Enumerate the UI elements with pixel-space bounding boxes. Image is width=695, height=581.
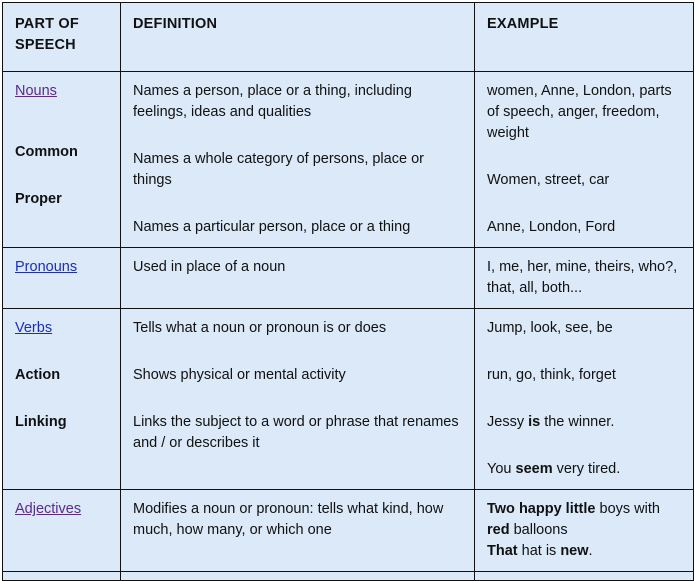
clipped-cell [121, 572, 475, 581]
definition-text: Names a whole category of persons, place… [133, 149, 464, 191]
subtype-label-action: Action [15, 365, 110, 386]
example-sentence-bold: red [487, 522, 510, 538]
example-text: I, me, her, mine, theirs, who?, that, al… [487, 257, 683, 299]
example-sentence-after-2: . [589, 543, 593, 559]
subtype-label-proper: Proper [15, 189, 110, 210]
definition-text: Names a person, place or a thing, includ… [133, 81, 464, 123]
definition-text: Modifies a noun or pronoun: tells what k… [133, 499, 464, 541]
column-header-definition: DEFINITION [121, 3, 475, 72]
example-sentence-bold-2: new [560, 543, 588, 559]
example-sentence-after: hat is [518, 543, 561, 559]
definition-cell-nouns: Names a person, place or a thing, includ… [121, 72, 475, 248]
table-row: Pronouns Used in place of a noun I, me, … [3, 248, 694, 309]
definition-text: Links the subject to a word or phrase th… [133, 412, 464, 454]
link-verbs[interactable]: Verbs [15, 318, 52, 339]
example-sentence-after: the winner. [540, 414, 614, 430]
example-text: women, Anne, London, parts of speech, an… [487, 81, 683, 144]
example-cell-pronouns: I, me, her, mine, theirs, who?, that, al… [475, 248, 694, 309]
example-sentence-bold: seem [516, 461, 553, 477]
table-row: Nouns Common Proper Names a person, plac… [3, 72, 694, 248]
part-of-speech-cell-nouns: Nouns Common Proper [3, 72, 121, 248]
definition-text: Used in place of a noun [133, 257, 464, 278]
definition-text: Shows physical or mental activity [133, 365, 464, 386]
part-of-speech-cell-pronouns: Pronouns [3, 248, 121, 309]
definition-cell-adjectives: Modifies a noun or pronoun: tells what k… [121, 490, 475, 572]
example-text: Anne, London, Ford [487, 217, 683, 238]
example-sentence-after: very tired. [553, 461, 621, 477]
example-sentence: Jessy is the winner. [487, 412, 683, 433]
link-pronouns[interactable]: Pronouns [15, 257, 77, 278]
spacer [15, 102, 110, 142]
table-row: Verbs Action Linking Tells what a noun o… [3, 309, 694, 490]
example-sentence: red balloons [487, 520, 683, 541]
table-row: Adjectives Modifies a noun or pronoun: t… [3, 490, 694, 572]
example-sentence: That hat is new. [487, 541, 683, 562]
example-cell-adjectives: Two happy little boys with red balloons … [475, 490, 694, 572]
definition-text: Tells what a noun or pronoun is or does [133, 318, 464, 339]
subtype-label-common: Common [15, 142, 110, 163]
subtype-label-linking: Linking [15, 412, 110, 433]
table-body: Nouns Common Proper Names a person, plac… [3, 72, 694, 581]
column-header-part-of-speech-line1: PART OF [15, 16, 79, 32]
table-row-clipped [3, 572, 694, 581]
part-of-speech-cell-adjectives: Adjectives [3, 490, 121, 572]
link-nouns[interactable]: Nouns [15, 81, 57, 102]
example-cell-nouns: women, Anne, London, parts of speech, an… [475, 72, 694, 248]
clipped-cell [475, 572, 694, 581]
definition-cell-verbs: Tells what a noun or pronoun is or does … [121, 309, 475, 490]
link-adjectives[interactable]: Adjectives [15, 499, 81, 520]
parts-of-speech-table: PART OF SPEECH DEFINITION EXAMPLE Nouns … [2, 2, 694, 581]
example-sentence: Two happy little boys with [487, 499, 683, 520]
column-header-part-of-speech-line2: SPEECH [15, 37, 76, 53]
example-sentence-before: You [487, 461, 516, 477]
example-sentence-after: balloons [510, 522, 568, 538]
example-sentence-bold: That [487, 543, 518, 559]
spacer [15, 339, 110, 365]
example-sentence-before: Jessy [487, 414, 528, 430]
example-sentence-bold: Two happy little [487, 501, 595, 517]
example-sentence-bold: is [528, 414, 540, 430]
definition-cell-pronouns: Used in place of a noun [121, 248, 475, 309]
definition-text: Names a particular person, place or a th… [133, 217, 464, 238]
example-text: Women, street, car [487, 170, 683, 191]
column-header-example: EXAMPLE [475, 3, 694, 72]
example-text: Jump, look, see, be [487, 318, 683, 339]
example-sentence-after: boys with [595, 501, 659, 517]
spacer [15, 386, 110, 412]
part-of-speech-cell-verbs: Verbs Action Linking [3, 309, 121, 490]
table-header: PART OF SPEECH DEFINITION EXAMPLE [3, 3, 694, 72]
example-sentence: You seem very tired. [487, 459, 683, 480]
example-text: run, go, think, forget [487, 365, 683, 386]
spacer [15, 163, 110, 189]
header-row: PART OF SPEECH DEFINITION EXAMPLE [3, 3, 694, 72]
example-cell-verbs: Jump, look, see, be run, go, think, forg… [475, 309, 694, 490]
column-header-part-of-speech: PART OF SPEECH [3, 3, 121, 72]
clipped-cell [3, 572, 121, 581]
